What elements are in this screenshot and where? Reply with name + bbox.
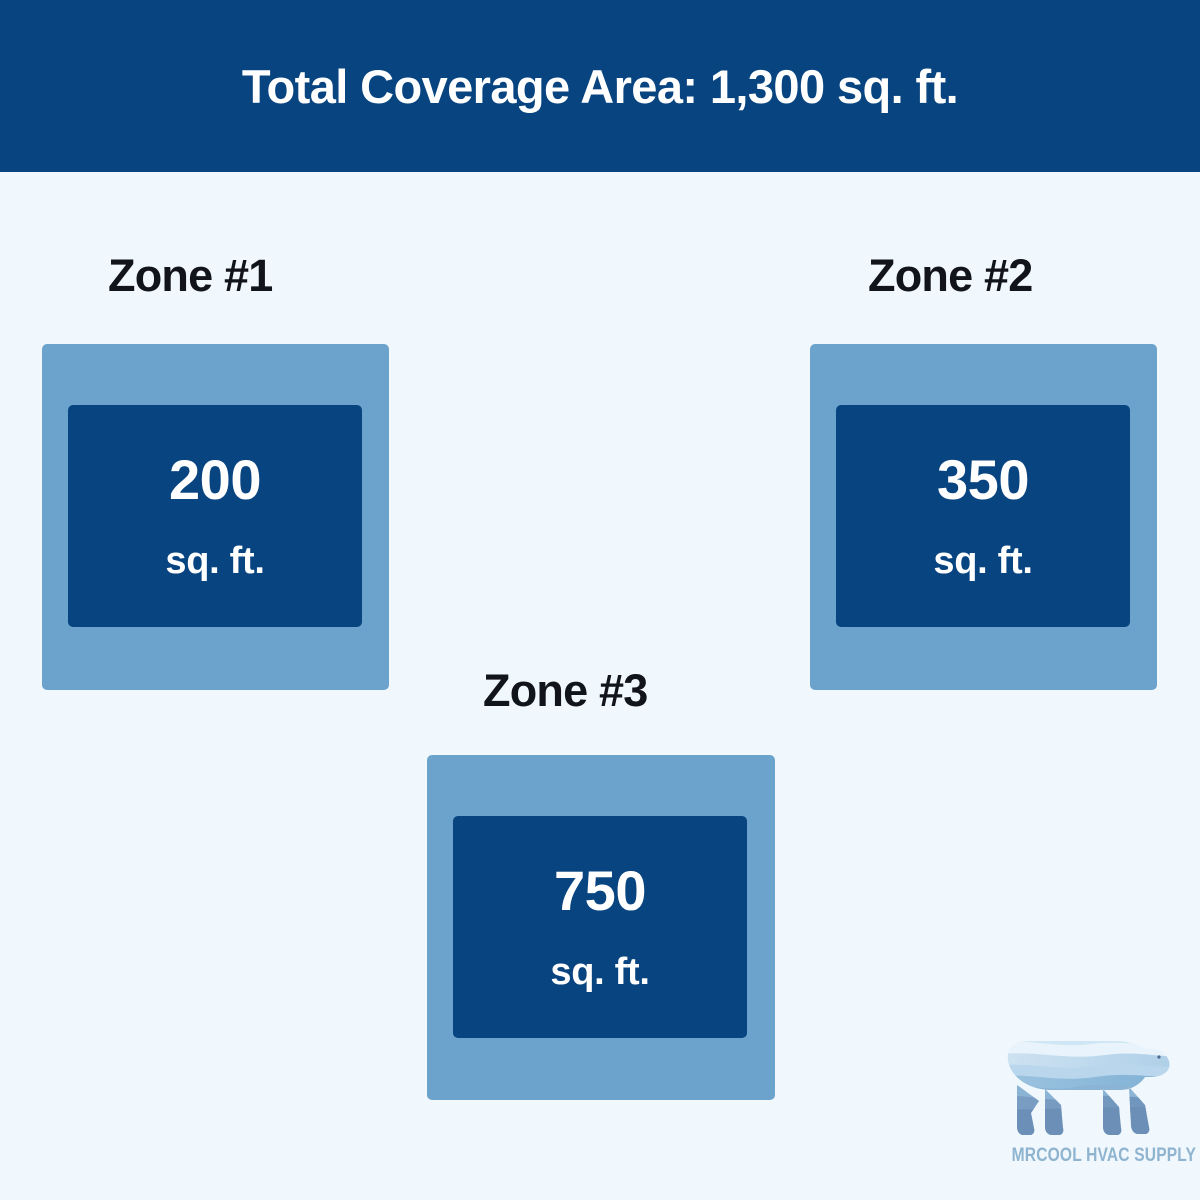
- brand-wordmark: MRCOOL HVAC SUPPLY: [1012, 1145, 1164, 1167]
- brand-logo: MRCOOL HVAC SUPPLY: [995, 1035, 1180, 1183]
- zone-1-inner-box: 200 sq. ft.: [68, 405, 362, 627]
- zone-1-outer-box: 200 sq. ft.: [42, 344, 389, 690]
- zone-2-outer-box: 350 sq. ft.: [810, 344, 1157, 690]
- zone-3-outer-box: 750 sq. ft.: [427, 755, 775, 1100]
- zone-3-area-value: 750: [554, 863, 646, 919]
- zone-3-area-unit: sq. ft.: [550, 953, 649, 991]
- zone-2-inner-box: 350 sq. ft.: [836, 405, 1130, 627]
- zone-2-area-unit: sq. ft.: [933, 542, 1032, 580]
- polar-bear-icon: [995, 1035, 1180, 1143]
- bear-eye-icon: [1157, 1055, 1160, 1058]
- zone-3-inner-box: 750 sq. ft.: [453, 816, 747, 1038]
- zone-2-area-value: 350: [937, 452, 1029, 508]
- header-banner: Total Coverage Area: 1,300 sq. ft.: [0, 0, 1200, 172]
- zone-3-label: Zone #3: [483, 665, 647, 717]
- zone-1-area-unit: sq. ft.: [165, 542, 264, 580]
- zone-1-label: Zone #1: [108, 250, 272, 302]
- zone-2-label: Zone #2: [868, 250, 1032, 302]
- infographic-canvas: Total Coverage Area: 1,300 sq. ft. Zone …: [0, 0, 1200, 1200]
- zone-1-area-value: 200: [169, 452, 261, 508]
- page-title: Total Coverage Area: 1,300 sq. ft.: [242, 59, 958, 114]
